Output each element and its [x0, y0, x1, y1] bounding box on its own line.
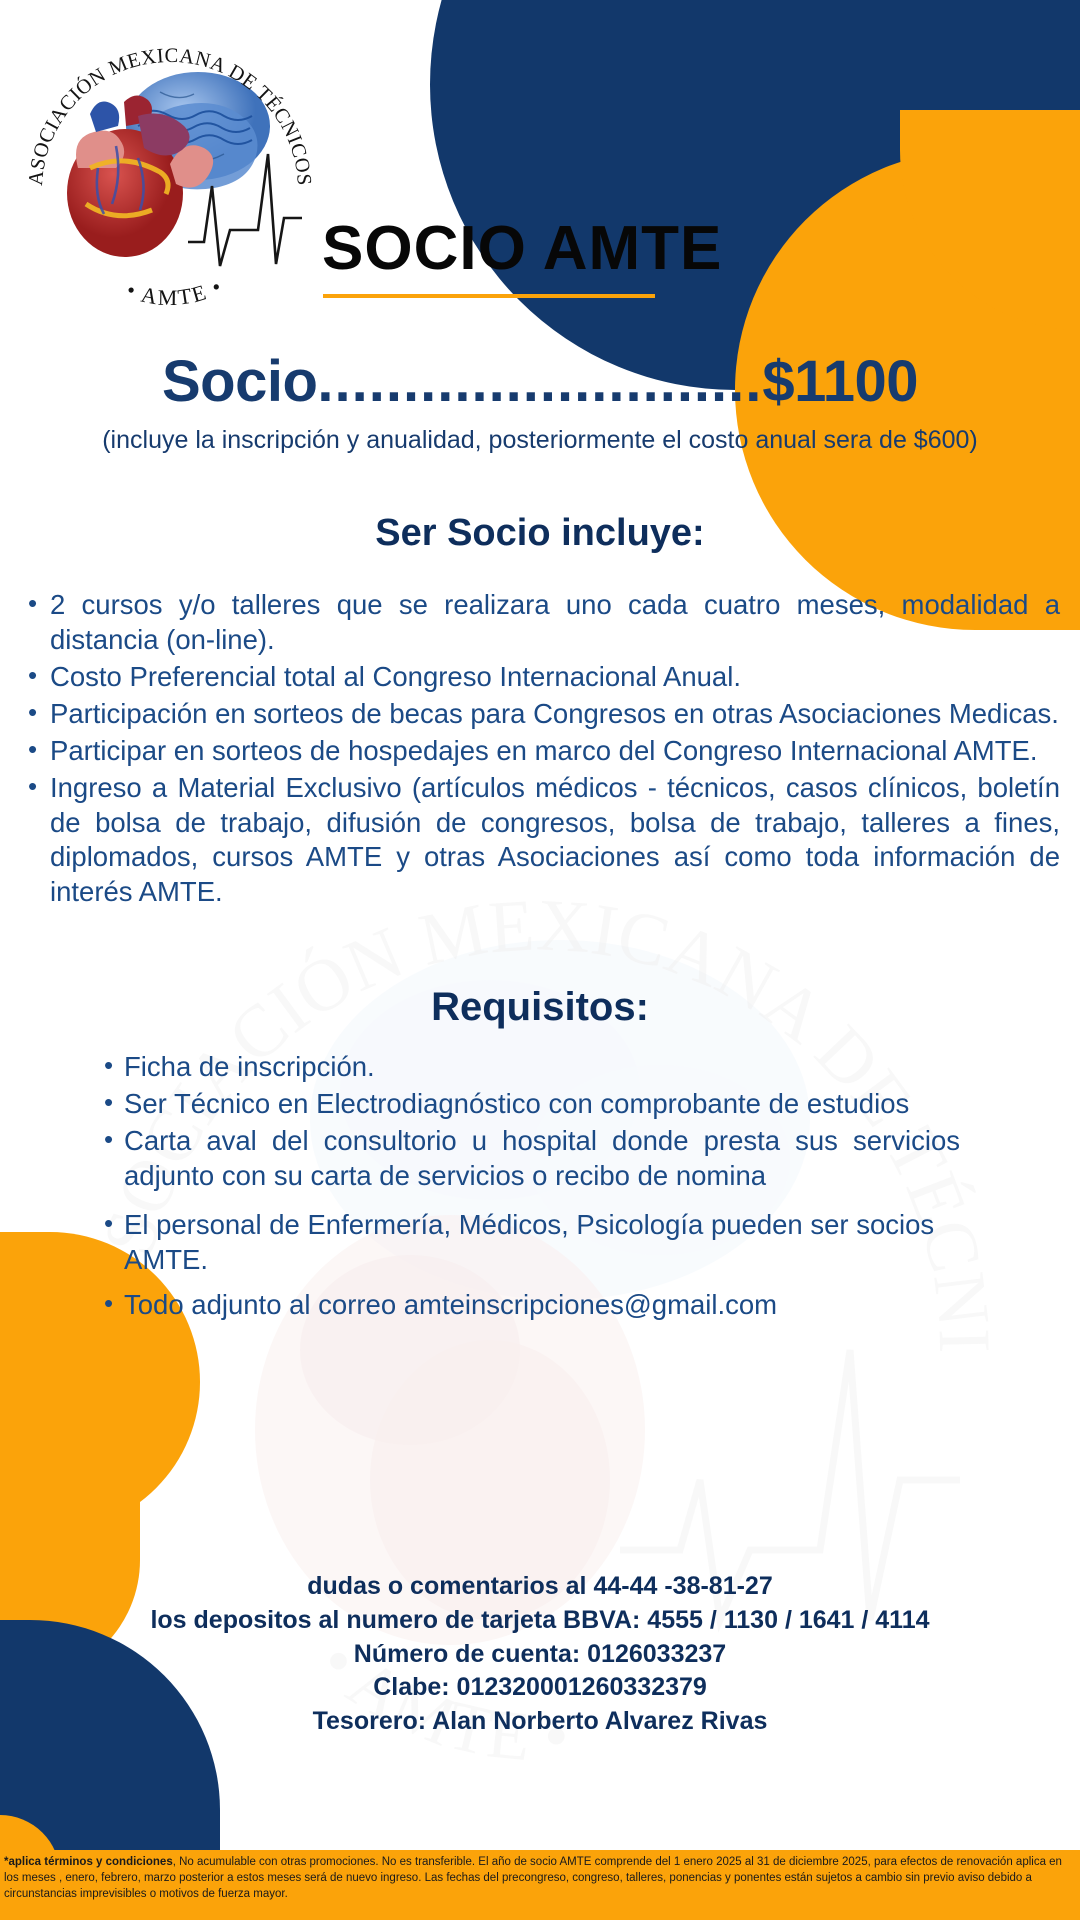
contact-line-account: Número de cuenta: 0126033237	[0, 1638, 1080, 1672]
terms-text: *aplica términos y condiciones, No acumu…	[4, 1855, 1076, 1903]
list-item: 2 cursos y/o talleres que se realizara u…	[24, 588, 1060, 658]
list-item: Costo Preferencial total al Congreso Int…	[24, 660, 1060, 695]
benefits-heading: Ser Socio incluye:	[0, 512, 1080, 555]
contact-line-treasurer: Tesorero: Alan Norberto Alvarez Rivas	[0, 1705, 1080, 1739]
title-underline	[323, 294, 655, 298]
contact-line-phone: dudas o comentarios al 44-44 -38-81-27	[0, 1570, 1080, 1604]
list-item: Participar en sorteos de hospedajes en m…	[24, 734, 1060, 769]
contact-line-card: los depositos al numero de tarjeta BBVA:…	[0, 1604, 1080, 1638]
list-item: El personal de Enfermería, Médicos, Psic…	[100, 1208, 960, 1278]
contact-block: dudas o comentarios al 44-44 -38-81-27 l…	[0, 1570, 1080, 1739]
requirements-heading: Requisitos:	[0, 985, 1080, 1030]
price-label: Socio	[162, 349, 317, 414]
list-item: Ficha de inscripción.	[100, 1050, 960, 1085]
page-title: SOCIO AMTE	[322, 218, 722, 280]
list-item: Participación en sorteos de becas para C…	[24, 697, 1060, 732]
terms-bold-prefix: *aplica términos y condiciones	[4, 1856, 173, 1868]
contact-line-clabe: Clabe: 012320001260332379	[0, 1671, 1080, 1705]
benefits-list: 2 cursos y/o talleres que se realizara u…	[24, 588, 1060, 912]
list-item: Ingreso a Material Exclusivo (artículos …	[24, 771, 1060, 911]
poster-page: ASOCIACIÓN MEXICANA DE TÉCNICOS EN ELECT…	[0, 0, 1080, 1920]
poster-content: SOCIO AMTE Socio........................…	[0, 0, 1080, 1920]
terms-footer: *aplica términos y condiciones, No acumu…	[0, 1850, 1080, 1920]
list-item: Carta aval del consultorio u hospital do…	[100, 1124, 960, 1194]
requirements-list: Ficha de inscripción. Ser Técnico en Ele…	[100, 1050, 960, 1324]
price-amount: $1100	[762, 349, 918, 414]
price-note: (incluye la inscripción y anualidad, pos…	[0, 426, 1080, 455]
list-item: Ser Técnico en Electrodiagnóstico con co…	[100, 1087, 960, 1122]
price-dots: ..........................	[317, 349, 762, 414]
price-line: Socio..........................$1100	[0, 348, 1080, 415]
list-item-email: Todo adjunto al correo amteinscripciones…	[100, 1288, 960, 1323]
